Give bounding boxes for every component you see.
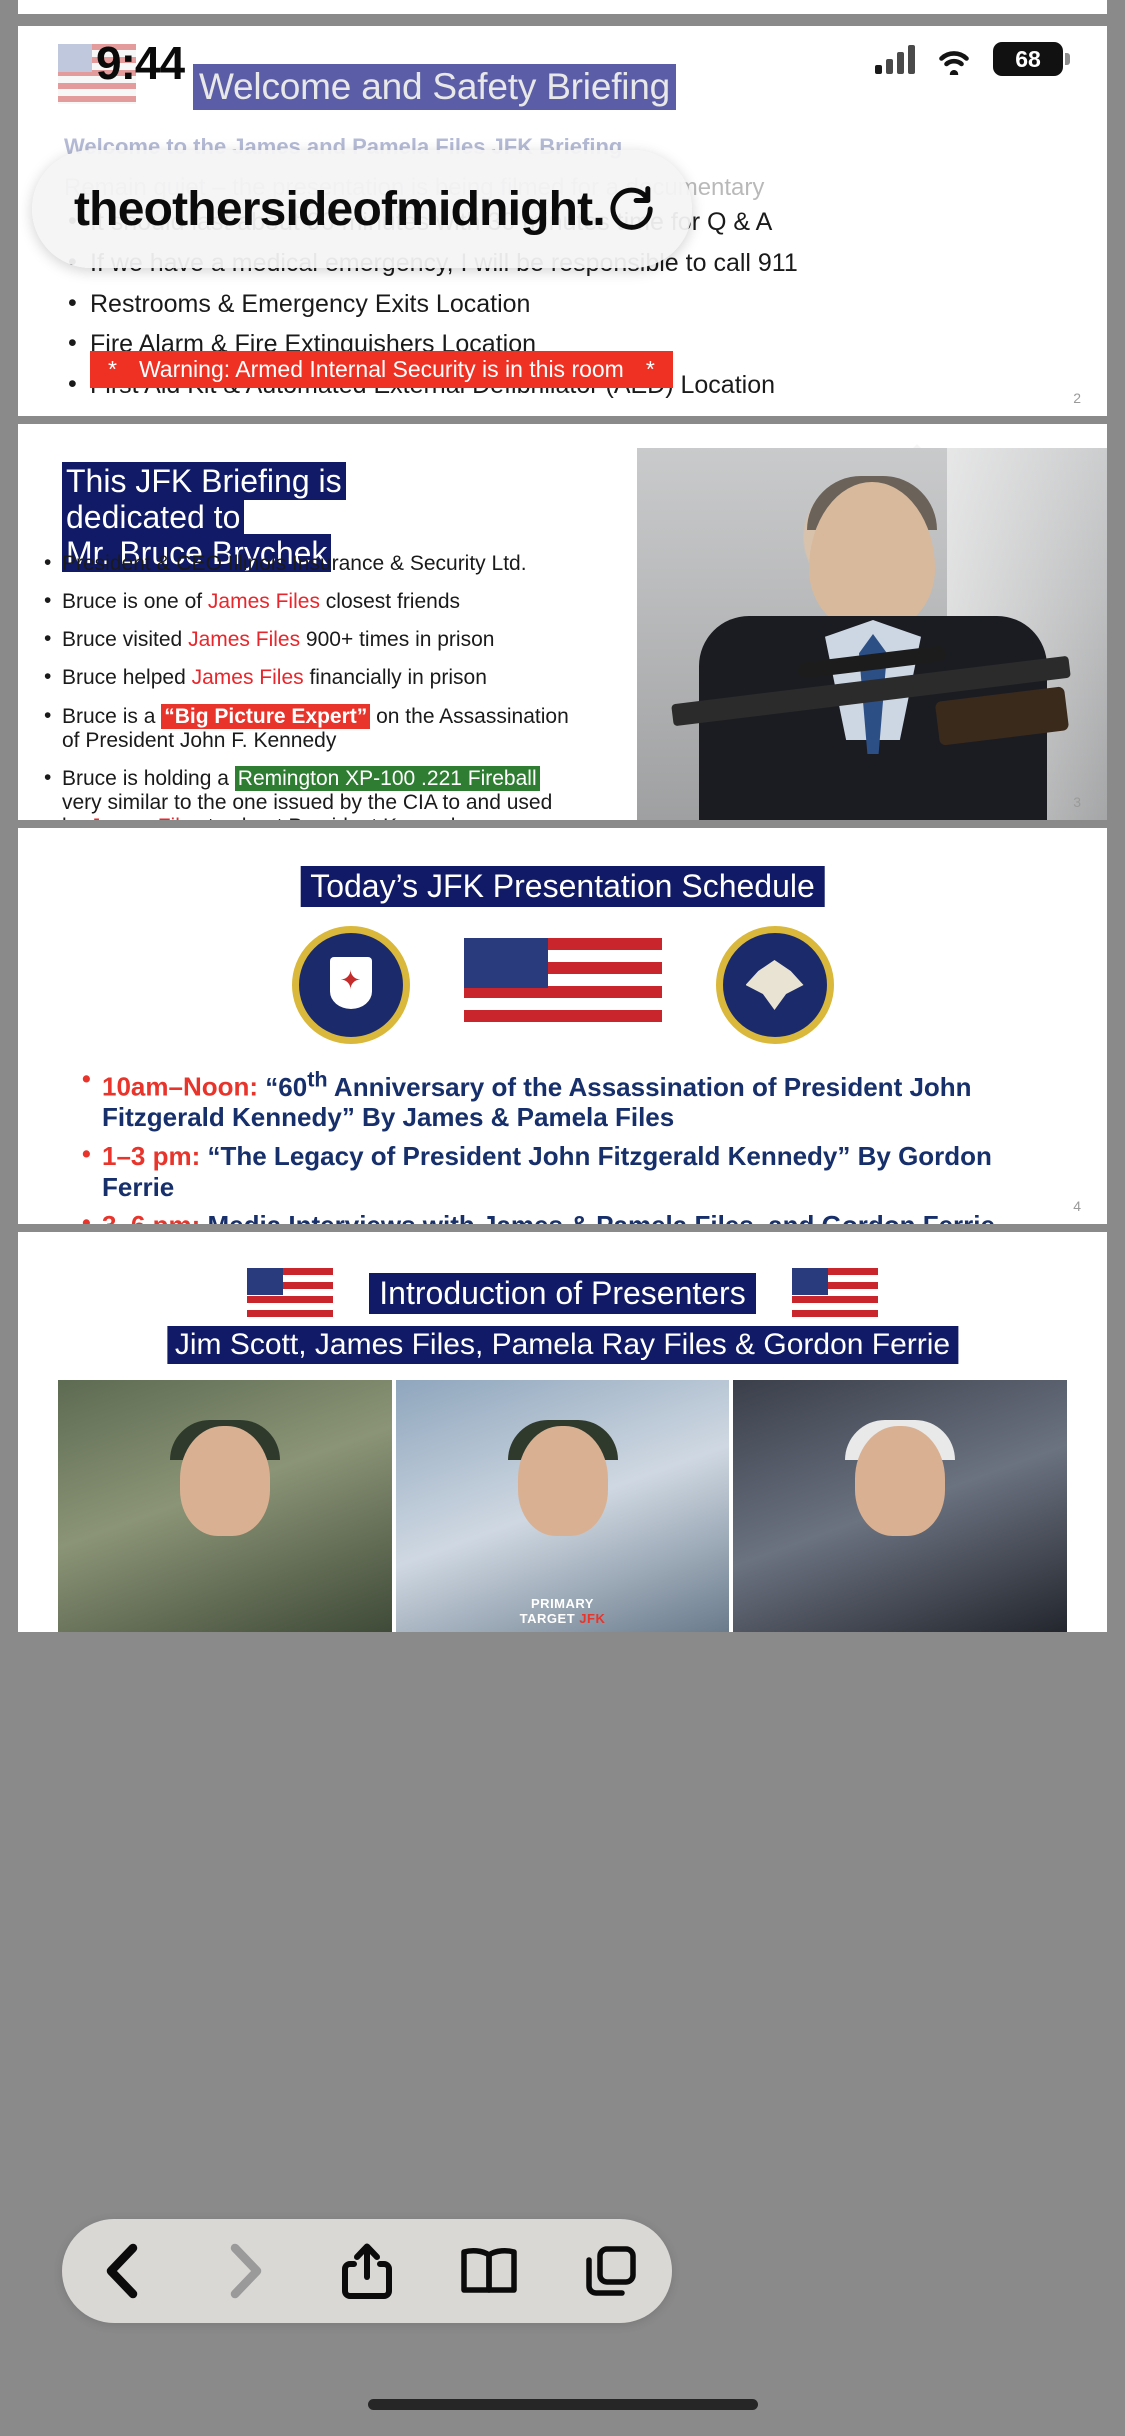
schedule-text: “The Legacy of President John Fitzgerald…	[102, 1141, 992, 1202]
schedule-time: 10am–Noon:	[102, 1072, 258, 1102]
slide-page-number: 2	[1073, 390, 1081, 406]
slide-page-number: 4	[1073, 1198, 1081, 1214]
bullet-text-run: James Files	[208, 590, 320, 613]
primary-target-badge: PRIMARY TARGET JFK	[520, 1597, 606, 1626]
intro-title: Introduction of Presenters	[369, 1273, 755, 1314]
schedule-text: Media Interviews with James & Pamela Fil…	[200, 1210, 995, 1224]
bullet-text-run: 900+ times in prison	[300, 628, 494, 651]
list-item: 1–3 pm: “The Legacy of President John Fi…	[78, 1141, 1058, 1202]
american-flag-icon	[247, 1268, 333, 1318]
list-item: Bruce visited James Files 900+ times in …	[40, 628, 580, 652]
warning-star-left: *	[104, 356, 139, 382]
list-item: 3–6 pm: Media Interviews with James & Pa…	[78, 1210, 1058, 1224]
warning-star-right: *	[624, 356, 659, 382]
bullet-text-run: Bruce helped	[62, 666, 192, 689]
intro-title-row: Introduction of Presenters	[18, 1268, 1107, 1318]
bullet-text-run: Bruce is one of	[62, 590, 208, 613]
cia-seal-icon: ✦	[292, 926, 410, 1044]
bruce-bullet-list: President & CEO Illinois Insurance & Sec…	[40, 552, 580, 820]
browser-page-viewport[interactable]: Welcome and Safety Briefing Welcome to t…	[0, 0, 1125, 2436]
bullet-text-run: “Big Picture Expert”	[161, 704, 370, 729]
presenter-photo-3	[733, 1380, 1067, 1632]
american-flag-icon	[58, 44, 136, 104]
schedule-title: Today’s JFK Presentation Schedule	[300, 866, 825, 907]
reload-icon[interactable]	[606, 183, 658, 235]
browser-toolbar[interactable]	[62, 2219, 672, 2323]
presenter-photo-1	[58, 1380, 392, 1632]
bullet-text-run: financially in prison	[304, 666, 487, 689]
slide-presentation-schedule[interactable]: Today’s JFK Presentation Schedule ✦ 10am…	[18, 828, 1107, 1224]
presidential-seal-icon	[716, 926, 834, 1044]
list-item: 10am–Noon: “60th Anniversary of the Assa…	[78, 1066, 1058, 1133]
schedule-time: 3–6 pm:	[102, 1210, 200, 1224]
slide-introduction-of-presenters[interactable]: Introduction of Presenters Jim Scott, Ja…	[18, 1232, 1107, 1632]
forward-icon[interactable]	[214, 2240, 276, 2302]
bullet-text-run: Bruce visited	[62, 628, 188, 651]
bullet-text-run: to shoot President Kennedy	[202, 815, 466, 820]
schedule-bullet-list: 10am–Noon: “60th Anniversary of the Assa…	[78, 1066, 1058, 1224]
presenter-photo-2: PRIMARY TARGET JFK	[396, 1380, 730, 1632]
schedule-time: 1–3 pm:	[102, 1141, 200, 1171]
bullet-text-run: James Files	[90, 815, 202, 820]
bookmarks-icon[interactable]	[458, 2240, 520, 2302]
list-item: Restrooms & Emergency Exits Location	[64, 290, 1074, 319]
bruce-brychek-photo	[637, 448, 1107, 820]
presenter-photo-strip: PRIMARY TARGET JFK	[58, 1380, 1067, 1632]
home-indicator	[368, 2399, 758, 2410]
slide-title: Welcome and Safety Briefing	[193, 64, 676, 110]
armed-security-warning-banner: *Warning: Armed Internal Security is in …	[90, 351, 673, 388]
badge-tag: JFK	[579, 1611, 605, 1626]
list-item: Bruce helped James Files financially in …	[40, 666, 580, 690]
tabs-icon[interactable]	[580, 2240, 642, 2302]
list-item: President & CEO Illinois Insurance & Sec…	[40, 552, 580, 576]
back-icon[interactable]	[92, 2240, 154, 2302]
dedication-title-line-1: This JFK Briefing is dedicated to	[62, 462, 346, 536]
american-flag-icon	[792, 1268, 878, 1318]
warning-text: Warning: Armed Internal Security is in t…	[139, 356, 624, 382]
seal-row: ✦	[18, 926, 1107, 1044]
bullet-text-run: closest friends	[320, 590, 460, 613]
list-item: Bruce is holding a Remington XP-100 .221…	[40, 767, 580, 820]
slide-dedication-bruce-brychek[interactable]: This JFK Briefing is dedicated to Mr. Br…	[18, 424, 1107, 820]
list-item: Bruce is a “Big Picture Expert” on the A…	[40, 705, 580, 753]
address-bar[interactable]: theothersideofmidnight.com	[32, 150, 692, 268]
bullet-text-run: Bruce is holding a	[62, 767, 235, 790]
slide-partial-top	[18, 0, 1107, 14]
badge-line-1: PRIMARY	[531, 1596, 594, 1611]
bullet-text-run: President & CEO Illinois Insurance & Sec…	[62, 552, 527, 575]
bullet-text-run: Bruce is a	[62, 705, 161, 728]
share-icon[interactable]	[336, 2240, 398, 2302]
slide-page-number: 3	[1073, 794, 1081, 810]
list-item: Bruce is one of James Files closest frie…	[40, 590, 580, 614]
url-text[interactable]: theothersideofmidnight.com	[74, 182, 606, 237]
bullet-text-run: James Files	[188, 628, 300, 651]
presenter-names: Jim Scott, James Files, Pamela Ray Files…	[167, 1326, 958, 1364]
american-flag-icon	[464, 938, 662, 1032]
badge-line-2: TARGET	[520, 1611, 575, 1626]
bullet-text-run: Remington XP-100 .221 Fireball	[235, 766, 540, 791]
bullet-text-run: James Files	[192, 666, 304, 689]
